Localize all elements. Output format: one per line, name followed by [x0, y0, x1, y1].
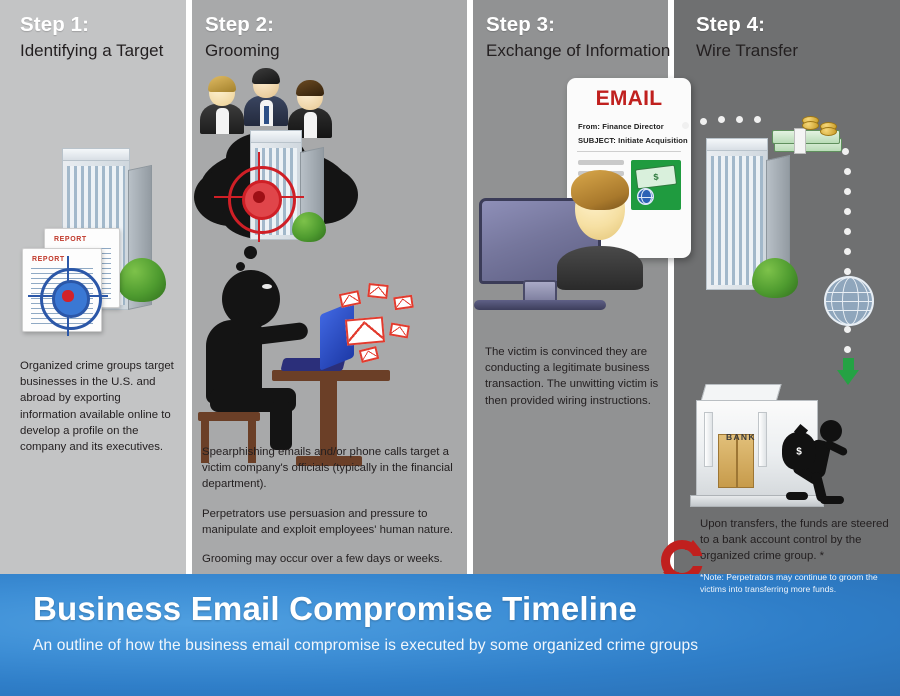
bush-icon: [118, 258, 166, 302]
page-subtitle: An outline of how the business email com…: [33, 637, 698, 655]
email-envelope-1: [339, 290, 361, 308]
money-bag-icon: [782, 432, 816, 470]
step-2-heading: Step 2: Grooming: [205, 14, 280, 60]
executive-avatar-2: [244, 70, 288, 126]
bush-icon-2: [292, 212, 326, 242]
email-divider: [577, 151, 681, 152]
step-2-paragraph-3: Grooming may occur over a few days or we…: [202, 551, 464, 567]
step-4-number: Step 4:: [696, 14, 798, 36]
desk-top: [272, 370, 390, 381]
step-4-paragraph-1: Upon transfers, the funds are steered to…: [700, 516, 890, 565]
money-stack-icon: [772, 114, 844, 160]
step-1-number: Step 1:: [20, 14, 163, 36]
email-envelope-2: [367, 283, 388, 299]
bush-icon-3: [752, 258, 798, 298]
target-crosshair-icon: [40, 268, 96, 324]
target-crosshair-red-icon: [228, 166, 290, 228]
email-envelope-main: [345, 316, 385, 345]
executive-avatar-1: [200, 78, 244, 134]
stool-seat: [198, 412, 260, 421]
step-2-paragraph-2: Perpetrators use persuasion and pressure…: [202, 506, 464, 538]
step-3-illustration: EMAIL From: Finance Director SUBJECT: In…: [473, 70, 700, 340]
step-2-body: Spearphishing emails and/or phone calls …: [202, 444, 464, 567]
step-1-title: Identifying a Target: [20, 41, 163, 61]
step-1-paragraph-1: Organized crime groups target businesses…: [20, 358, 180, 455]
step-1-body: Organized crime groups target businesses…: [20, 358, 180, 455]
step-2-paragraph-1: Spearphishing emails and/or phone calls …: [202, 444, 464, 493]
email-envelope-4: [389, 322, 410, 338]
victim-leg-silhouette: [270, 402, 292, 450]
email-heading: EMAIL: [567, 87, 691, 111]
footnote-text: *Note: Perpetrators may continue to groo…: [700, 572, 896, 596]
email-envelope-3: [393, 295, 414, 311]
head-highlight: [262, 284, 272, 289]
report-label-front: REPORT: [32, 256, 65, 263]
step-2-illustration: [192, 70, 467, 440]
step-3-body: The victim is convinced they are conduct…: [485, 344, 670, 409]
page-title: Business Email Compromise Timeline: [33, 590, 637, 628]
step-1-illustration: REPORT REPORT: [0, 120, 186, 350]
bank-label: BANK: [726, 432, 756, 442]
thought-bubble-small-1: [244, 246, 257, 259]
step-3-number: Step 3:: [486, 14, 670, 36]
report-label-back: REPORT: [54, 236, 87, 243]
email-from-line: From: Finance Director: [578, 122, 664, 131]
step-1-heading: Step 1: Identifying a Target: [20, 14, 163, 60]
step-4-heading: Step 4: Wire Transfer: [696, 14, 798, 60]
email-envelope-5: [359, 346, 380, 363]
step-4-body: Upon transfers, the funds are steered to…: [700, 516, 890, 565]
thought-bubble-small-2: [236, 262, 245, 271]
step-4-illustration: BANK: [674, 100, 900, 520]
step-2-title: Grooming: [205, 41, 280, 61]
step-3-heading: Step 3: Exchange of Information: [486, 14, 670, 60]
infographic-canvas: Step 1: Identifying a Target REPORT REPO…: [0, 0, 900, 696]
globe-icon: [824, 276, 874, 326]
step-4-title: Wire Transfer: [696, 41, 798, 61]
step-3-paragraph-1: The victim is convinced they are conduct…: [485, 344, 670, 409]
transfer-arrow-down-icon: [837, 370, 859, 385]
step-2-number: Step 2:: [205, 14, 280, 36]
email-subject-line: SUBJECT: Initiate Acquisition: [578, 136, 688, 145]
step-3-title: Exchange of Information: [486, 41, 670, 61]
